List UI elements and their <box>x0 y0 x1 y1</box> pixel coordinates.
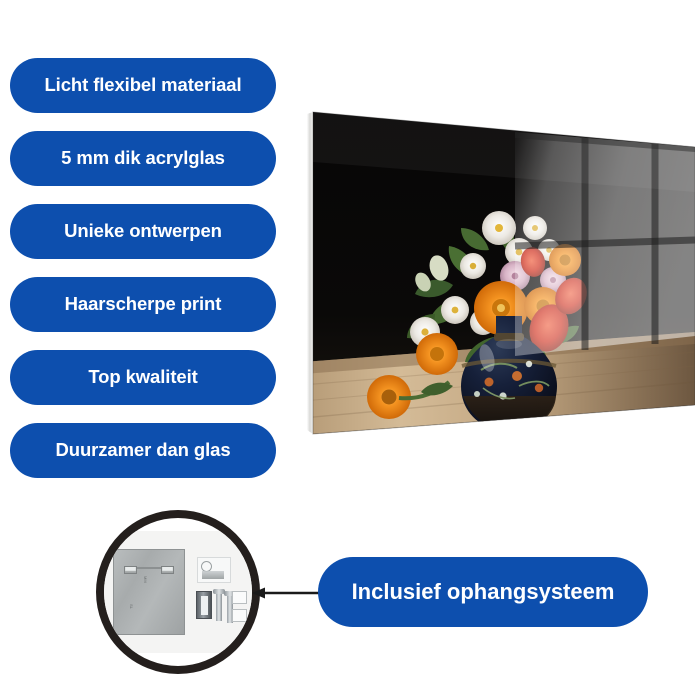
mounting-system-label: Inclusief ophangsysteem <box>352 579 615 605</box>
mounting-system-badge: Inclusief ophangsysteem <box>318 557 648 627</box>
panel-edge-thickness <box>307 112 313 434</box>
panel-artwork <box>303 100 695 445</box>
acrylic-panel-product-image <box>303 100 695 445</box>
feature-badge-label: 5 mm dik acrylglas <box>61 149 225 168</box>
plate-marking: SL <box>129 604 134 609</box>
mounting-system-detail-circle: MM SL <box>96 510 260 674</box>
mounting-hardware-photo: MM SL <box>103 531 253 653</box>
acrylic-panel-render <box>303 100 695 445</box>
screw <box>216 589 222 621</box>
feature-badge-label: Top kwaliteit <box>88 368 197 387</box>
plate-marking: MM <box>143 576 148 583</box>
feature-badge-label: Duurzamer dan glas <box>55 441 230 460</box>
mounting-plate: MM SL <box>113 549 185 635</box>
feature-badge-top-kwaliteit: Top kwaliteit <box>10 350 276 405</box>
feature-badge-label: Unieke ontwerpen <box>64 222 222 241</box>
feature-badge-list: Licht flexibel materiaal 5 mm dik acrylg… <box>10 58 276 496</box>
feature-badge-duurzamer-dan-glas: Duurzamer dan glas <box>10 423 276 478</box>
feature-badge-label: Haarscherpe print <box>65 295 222 314</box>
feature-badge-label: Licht flexibel materiaal <box>44 76 241 95</box>
feature-badge-dikte: 5 mm dik acrylglas <box>10 131 276 186</box>
feature-badge-haarscherpe-print: Haarscherpe print <box>10 277 276 332</box>
spacer <box>232 591 247 604</box>
screw-packet <box>197 557 231 583</box>
infographic-canvas: Licht flexibel materiaal 5 mm dik acrylg… <box>0 0 700 700</box>
mounting-slot-right <box>161 566 174 574</box>
feature-badge-licht-flexibel-materiaal: Licht flexibel materiaal <box>10 58 276 113</box>
spacer <box>232 609 247 622</box>
mounting-slot-left <box>124 566 137 574</box>
feature-badge-unieke-ontwerpen: Unieke ontwerpen <box>10 204 276 259</box>
mounting-plate-rail <box>137 567 161 569</box>
wall-plug <box>196 591 212 619</box>
